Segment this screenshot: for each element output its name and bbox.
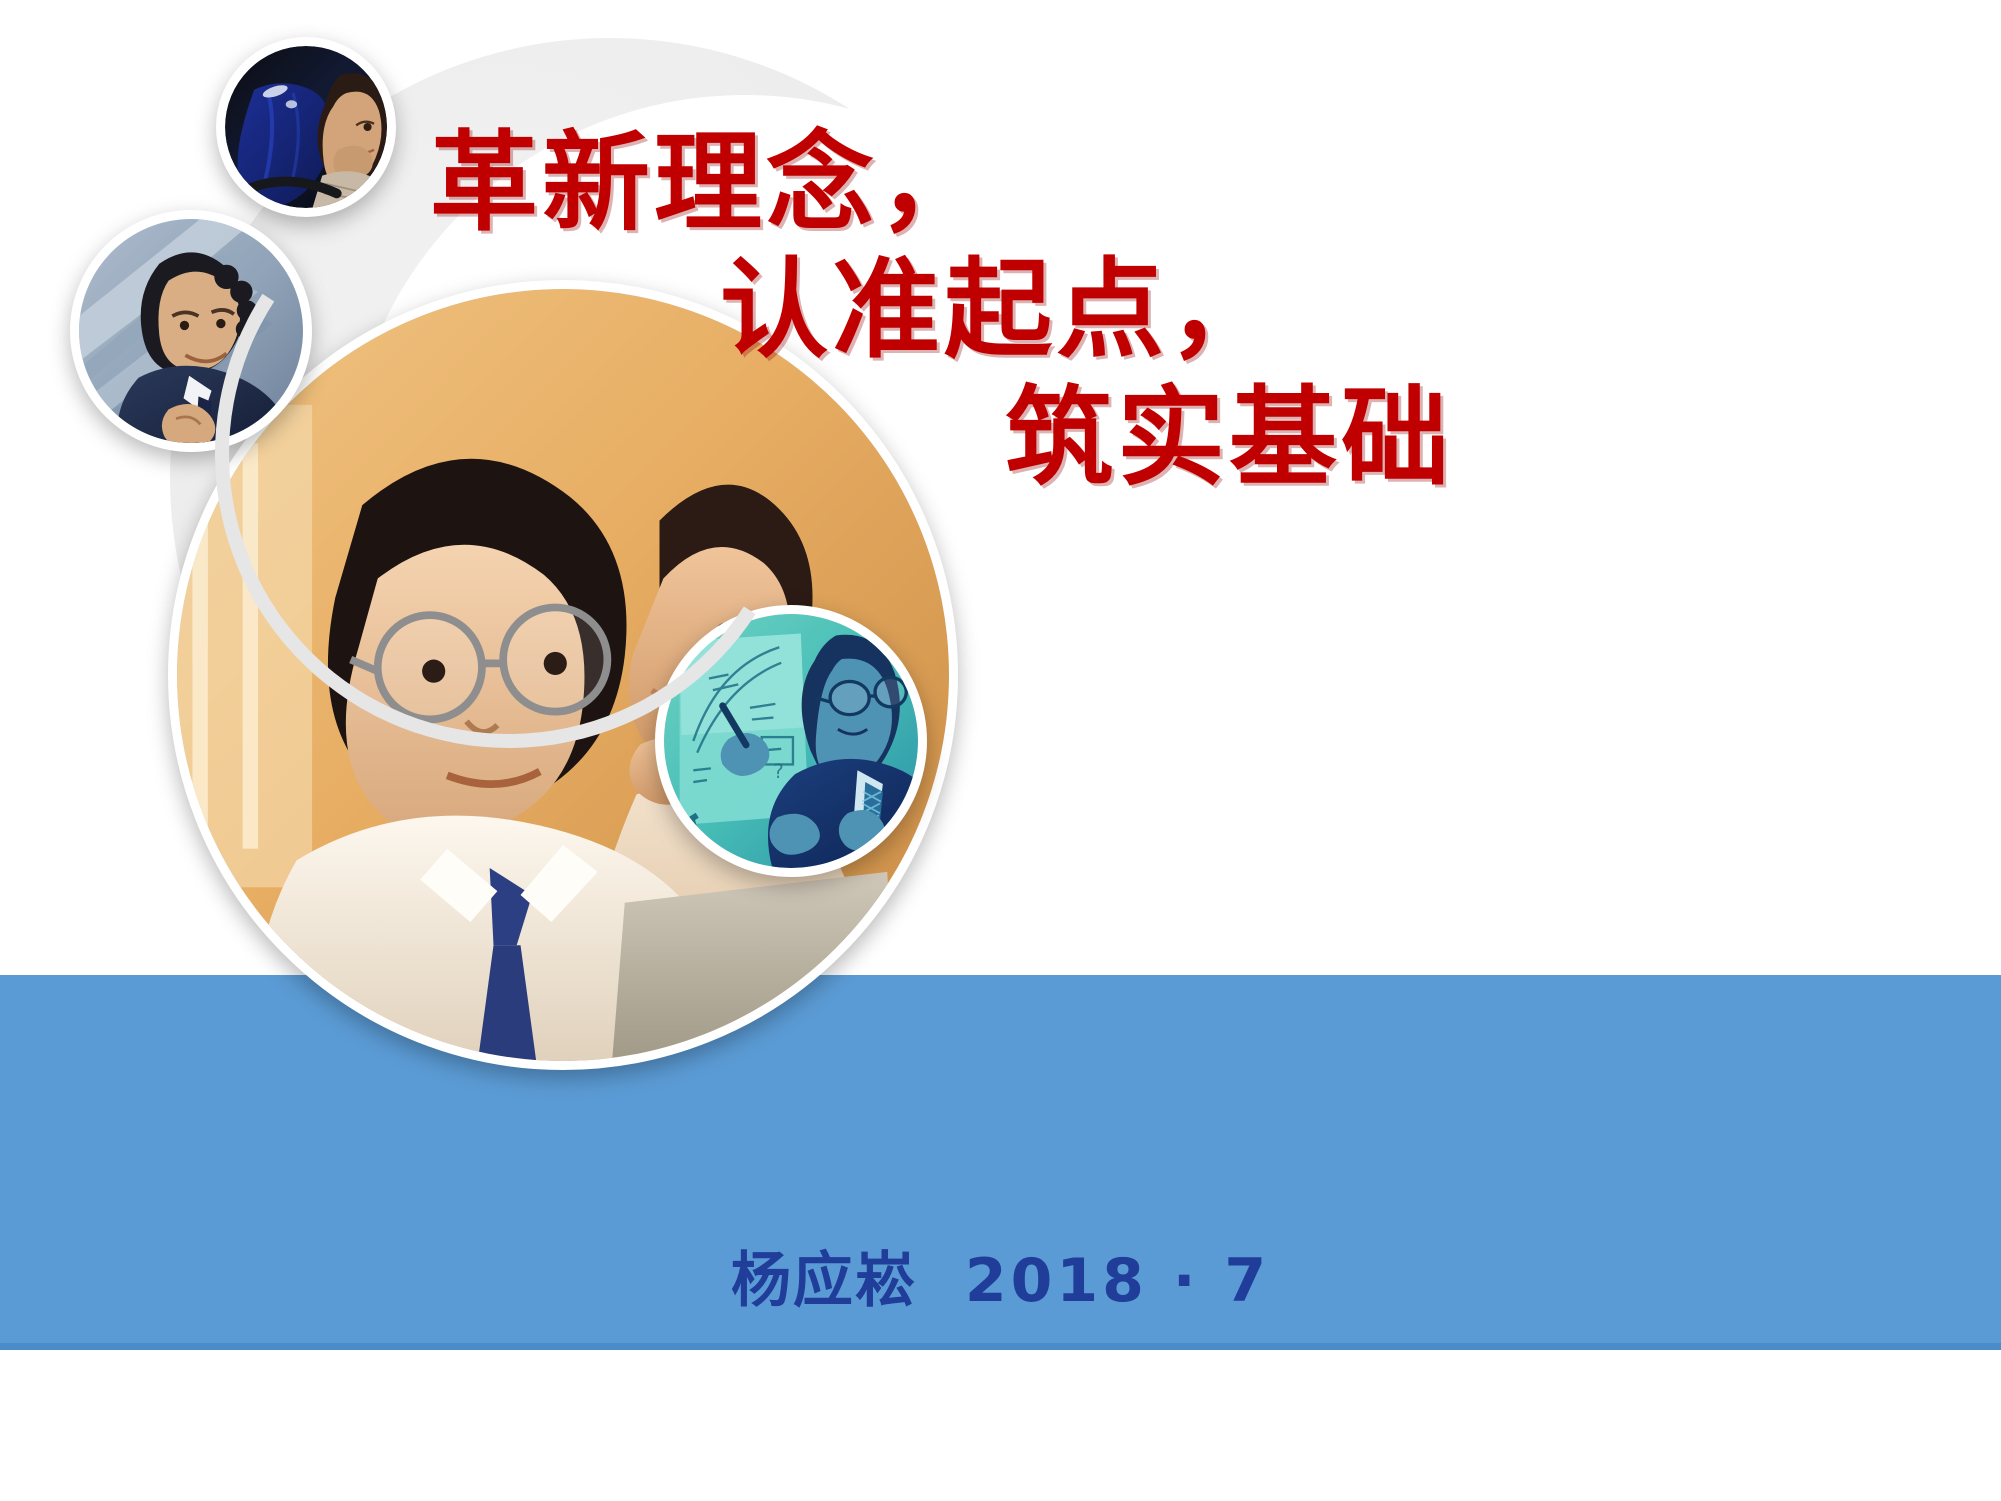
slide-title: 革新理念， 认准起点， 筑实基础: [430, 120, 1490, 502]
slide-footer: 杨应崧2018 · 7: [0, 1232, 2001, 1319]
svg-text:?: ?: [773, 760, 783, 783]
author-name: 杨应崧: [731, 1246, 917, 1316]
man-thinking-illustration: [225, 46, 387, 208]
man-thinking-photo-inner: [225, 46, 387, 208]
footer-accent-band-edge: [0, 1343, 2001, 1350]
title-line-2: 认准起点，: [430, 247, 1490, 374]
man-thinking-photo: [216, 37, 396, 217]
presentation-date: 2018 · 7: [965, 1246, 1270, 1316]
title-line-3: 筑实基础: [430, 375, 1490, 502]
title-slide: ?: [0, 0, 2001, 1501]
title-line-1: 革新理念，: [430, 120, 1490, 247]
